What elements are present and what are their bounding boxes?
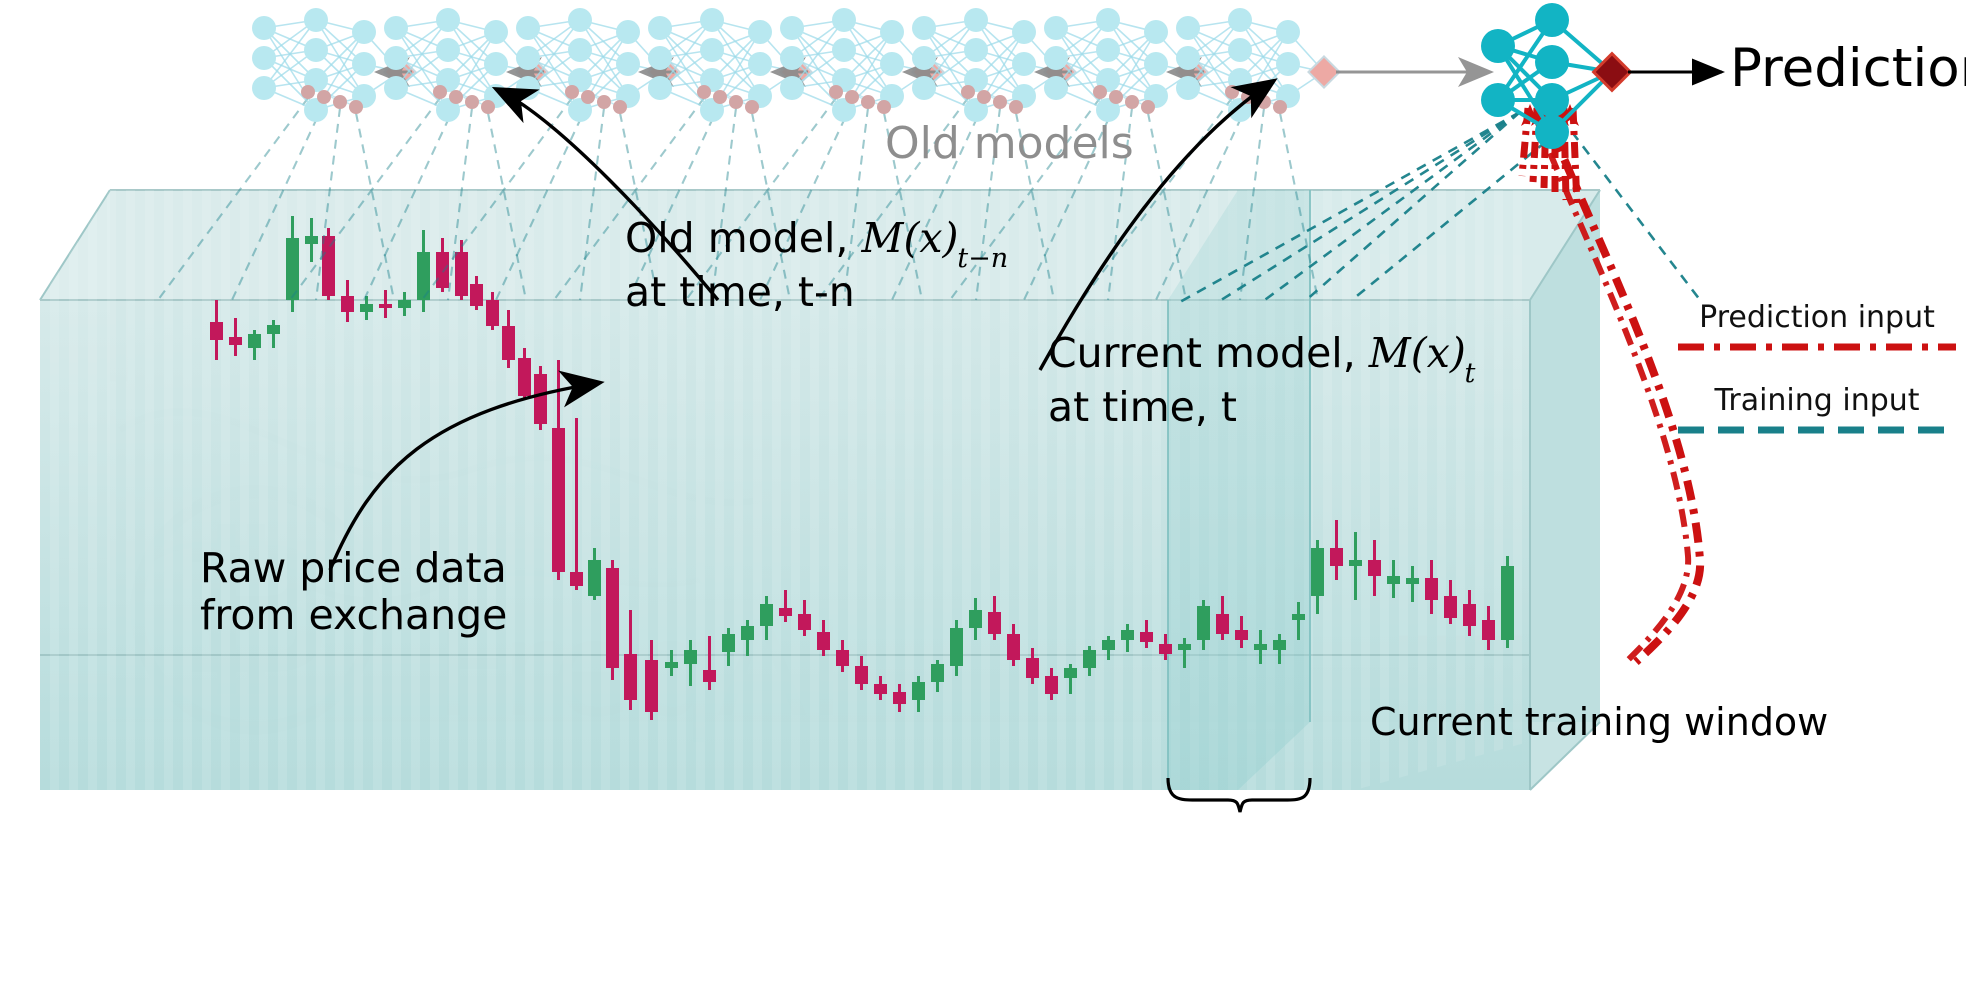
legend-swatch-training-input: [1672, 422, 1962, 438]
legend-item-training-input: Training input: [1668, 383, 1966, 438]
diagram-canvas: ₿ FreqAI: [0, 0, 1966, 981]
old-model-annotation-line2: at time, t-n: [625, 269, 1010, 316]
current-training-window-label: Current training window: [1370, 700, 1828, 744]
old-model-math-arg: (x): [903, 214, 958, 262]
legend-label-training-input: Training input: [1668, 383, 1966, 418]
arrow-to-raw-price-data: [330, 383, 598, 570]
current-model-annotation: Current model, M(x)t at time, t: [1048, 330, 1477, 431]
legend-item-prediction-input: Prediction input: [1668, 300, 1966, 355]
current-model-math-arg: (x): [1411, 329, 1466, 377]
old-model-math-sub: t−n: [957, 243, 1008, 274]
raw-price-annotation-line1: Raw price data: [200, 545, 507, 592]
raw-price-annotation: Raw price data from exchange: [200, 545, 507, 638]
old-models-label: Old models: [885, 118, 1134, 169]
prediction-label: Prediction: [1730, 38, 1966, 99]
old-model-annotation: Old model, M(x)t−n at time, t-n: [625, 215, 1010, 316]
raw-price-annotation-line2: from exchange: [200, 592, 507, 639]
current-model-annotation-line1: Current model, M(x)t: [1048, 330, 1477, 384]
current-model-math-sub: t: [1465, 358, 1476, 389]
legend-label-prediction-input: Prediction input: [1668, 300, 1966, 335]
current-model-math-fn: M: [1369, 329, 1411, 377]
old-model-annotation-line1: Old model, M(x)t−n: [625, 215, 1010, 269]
old-model-math-fn: M: [861, 214, 903, 262]
legend-swatch-prediction-input: [1672, 339, 1962, 355]
current-model-annotation-line2: at time, t: [1048, 384, 1477, 431]
legend: Prediction input Training input: [1668, 300, 1966, 438]
current-training-window-brace: [1168, 778, 1310, 812]
